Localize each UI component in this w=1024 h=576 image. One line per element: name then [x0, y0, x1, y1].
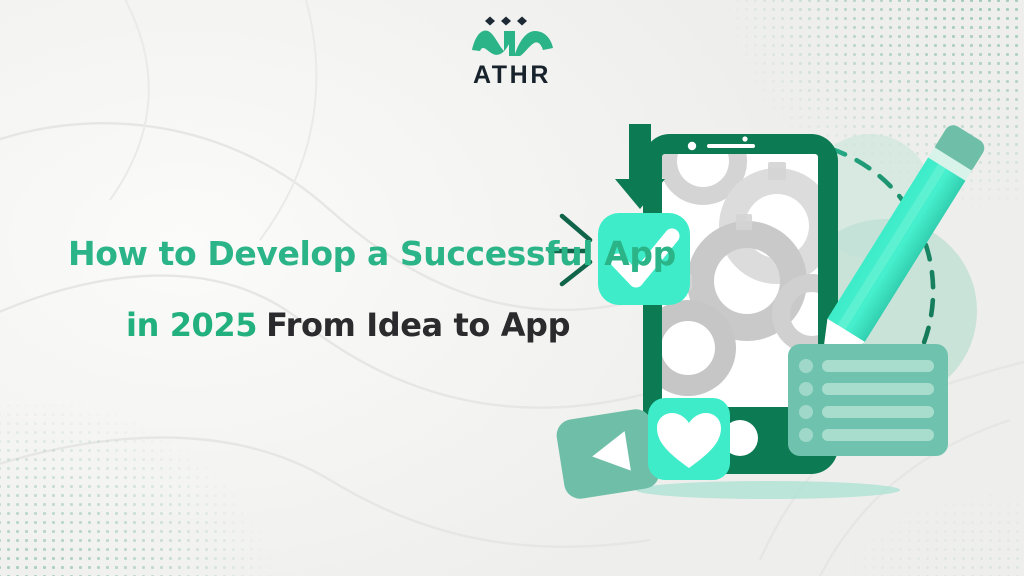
headline-block: How to Develop a Successful App in 2025F…	[68, 236, 676, 343]
camera-dot-icon	[688, 142, 696, 150]
headline-line-1: How to Develop a Successful App	[68, 236, 676, 272]
athr-wave-mark-icon	[466, 14, 558, 60]
heart-card-icon[interactable]	[648, 398, 730, 480]
ground-shadow	[636, 481, 900, 499]
headline-subtitle: From Idea to App	[266, 306, 570, 344]
headline-year: in 2025	[126, 306, 257, 344]
speaker-slot-icon	[707, 144, 755, 148]
headline-line-2: in 2025From Idea to App	[126, 308, 676, 343]
brand-name: ATHR	[442, 61, 582, 90]
athr-n-wave	[472, 31, 553, 56]
front-sensor-icon	[742, 136, 747, 141]
three-diamonds-icon	[485, 17, 527, 26]
halftone-dots-bottom-left	[0, 356, 280, 576]
brand-logo[interactable]: ATHR	[442, 14, 582, 90]
checklist-card-icon[interactable]	[788, 344, 948, 456]
play-card-icon[interactable]	[554, 407, 661, 501]
app-development-banner: ATHR How to Develop a Successful App in …	[0, 0, 1024, 576]
